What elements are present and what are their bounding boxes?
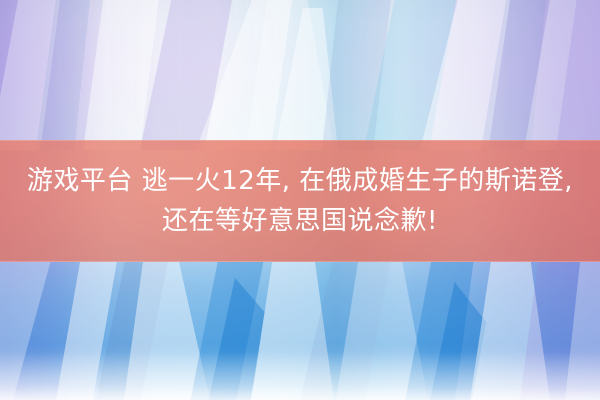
banner-graphic: 游戏平台 逃一火12年, 在俄成婚生子的斯诺登, 还在等好意思国说念歉! (0, 0, 600, 400)
shard-top-3 (78, 0, 162, 150)
shard-top-9 (360, 0, 456, 150)
shard-top-7 (268, 8, 338, 150)
shard-bottom-14 (560, 262, 600, 400)
banner-top-hairline (0, 140, 600, 141)
shard-top-6 (246, 0, 334, 150)
shard-bottom-10 (398, 262, 490, 400)
shard-bottom-11 (420, 282, 492, 400)
shard-top-10 (420, 0, 510, 150)
shard-bottom-6 (196, 278, 274, 400)
shard-bottom-8 (300, 262, 396, 400)
shard-bottom-3 (96, 262, 168, 400)
headline-line-1: 游戏平台 逃一火12年, 在俄成婚生子的斯诺登, (8, 161, 592, 201)
shard-top-13 (556, 0, 600, 150)
shard-top-8 (322, 0, 402, 150)
shard-top-5 (196, 0, 292, 150)
shard-bottom-5 (176, 262, 280, 400)
shard-top-12 (524, 0, 600, 150)
headline-text: 游戏平台 逃一火12年, 在俄成婚生子的斯诺登, 还在等好意思国说念歉! (8, 161, 592, 241)
shard-bottom-1 (0, 262, 90, 400)
shard-bottom-9 (336, 262, 428, 400)
headline-line-2: 还在等好意思国说念歉! (8, 201, 592, 241)
shard-top-11 (472, 0, 546, 150)
headline-banner: 游戏平台 逃一火12年, 在俄成婚生子的斯诺登, 还在等好意思国说念歉! (0, 140, 600, 262)
shard-bottom-13 (520, 262, 600, 400)
shard-bottom-4 (124, 262, 210, 400)
shard-bottom-2 (56, 262, 136, 400)
banner-bottom-hairline (0, 261, 600, 262)
shard-top-2 (24, 0, 90, 150)
shard-bottom-7 (248, 262, 334, 400)
shard-bottom-12 (470, 262, 550, 400)
shard-top-1 (0, 0, 60, 150)
shard-top-4 (140, 0, 232, 150)
